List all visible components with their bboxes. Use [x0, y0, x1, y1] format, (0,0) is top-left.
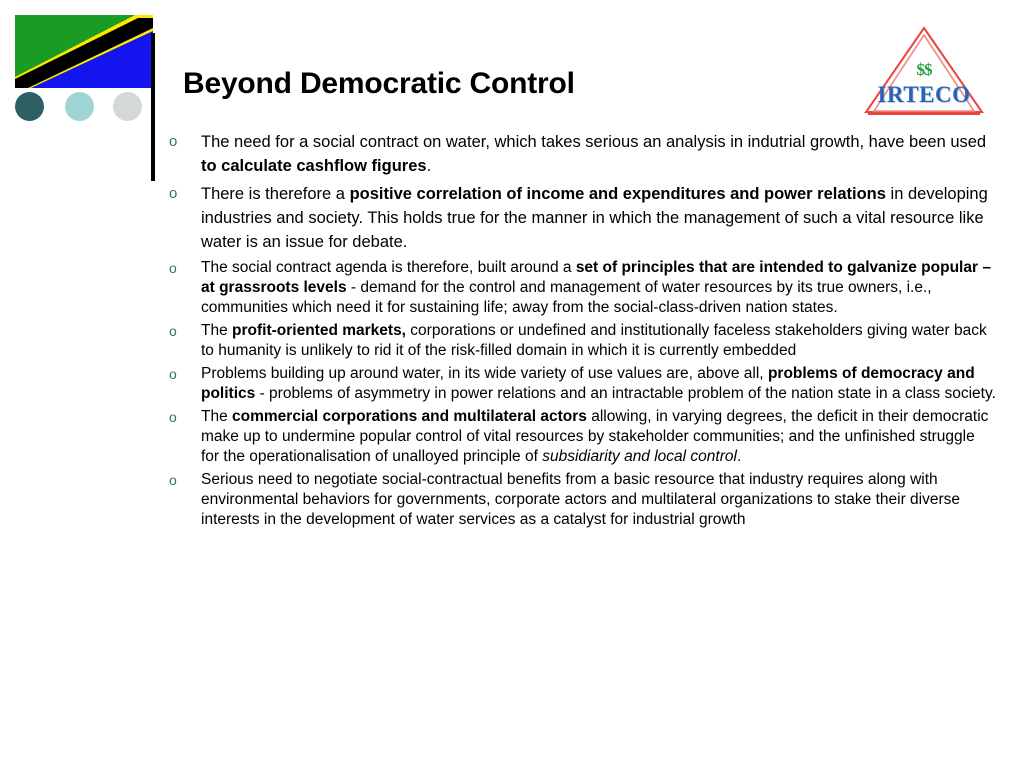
text-run-normal: . — [737, 448, 741, 465]
bullet-item: oThe commercial corporations and multila… — [165, 407, 997, 467]
bullet-text: The profit-oriented markets, corporation… — [201, 321, 997, 361]
logo-dollars-text: $$ — [862, 60, 986, 80]
logo-wordmark-text: IRTECO — [862, 82, 986, 108]
bullet-text: Serious need to negotiate social-contrac… — [201, 470, 997, 530]
bullet-marker-icon: o — [169, 321, 177, 341]
bullet-item: oThe social contract agenda is therefore… — [165, 258, 997, 318]
bullet-marker-icon: o — [169, 407, 177, 427]
irteco-logo: $$ IRTECO — [862, 24, 986, 116]
dot-light-gray-icon — [113, 92, 142, 121]
text-run-normal: . — [427, 157, 432, 175]
text-run-italic: subsidiarity and local control — [542, 448, 737, 465]
bullet-text: The commercial corporations and multilat… — [201, 407, 997, 467]
bullet-list: oThe need for a social contract on water… — [165, 130, 997, 533]
tanzania-flag-image — [15, 15, 153, 88]
bullet-text: There is therefore a positive correlatio… — [201, 182, 997, 254]
text-run-bold: to calculate cashflow figures — [201, 157, 427, 175]
text-run-normal: - problems of asymmetry in power relatio… — [255, 385, 996, 402]
slide-title: Beyond Democratic Control — [183, 66, 575, 102]
bullet-item: oThere is therefore a positive correlati… — [165, 182, 997, 254]
text-run-normal: Problems building up around water, in it… — [201, 365, 768, 382]
bullet-marker-icon: o — [169, 364, 177, 384]
text-run-normal: Serious need to negotiate social-contrac… — [201, 471, 960, 528]
bullet-item: oThe need for a social contract on water… — [165, 130, 997, 178]
text-run-normal: The — [201, 322, 232, 339]
bullet-text: The social contract agenda is therefore,… — [201, 258, 997, 318]
tanzania-flag-svg — [15, 15, 153, 88]
bullet-item: oSerious need to negotiate social-contra… — [165, 470, 997, 530]
dot-dark-teal-icon — [15, 92, 44, 121]
text-run-normal: The social contract agenda is therefore,… — [201, 259, 576, 276]
bullet-text: Problems building up around water, in it… — [201, 364, 997, 404]
bullet-text: The need for a social contract on water,… — [201, 130, 997, 178]
text-run-normal: The need for a social contract on water,… — [201, 133, 986, 151]
bullet-marker-icon: o — [169, 258, 177, 278]
bullet-marker-icon: o — [169, 182, 177, 206]
bullet-item: oProblems building up around water, in i… — [165, 364, 997, 404]
text-run-bold: positive correlation of income and expen… — [350, 185, 886, 203]
text-run-normal: The — [201, 408, 232, 425]
vertical-divider-rule — [151, 33, 155, 181]
bullet-marker-icon: o — [169, 130, 177, 154]
text-run-normal: There is therefore a — [201, 185, 350, 203]
decorative-dots-group — [13, 92, 153, 122]
text-run-bold: commercial corporations and multilateral… — [232, 408, 587, 425]
bullet-item: oThe profit-oriented markets, corporatio… — [165, 321, 997, 361]
text-run-bold: profit-oriented markets, — [232, 322, 406, 339]
bullet-marker-icon: o — [169, 470, 177, 490]
dot-light-aqua-icon — [65, 92, 94, 121]
